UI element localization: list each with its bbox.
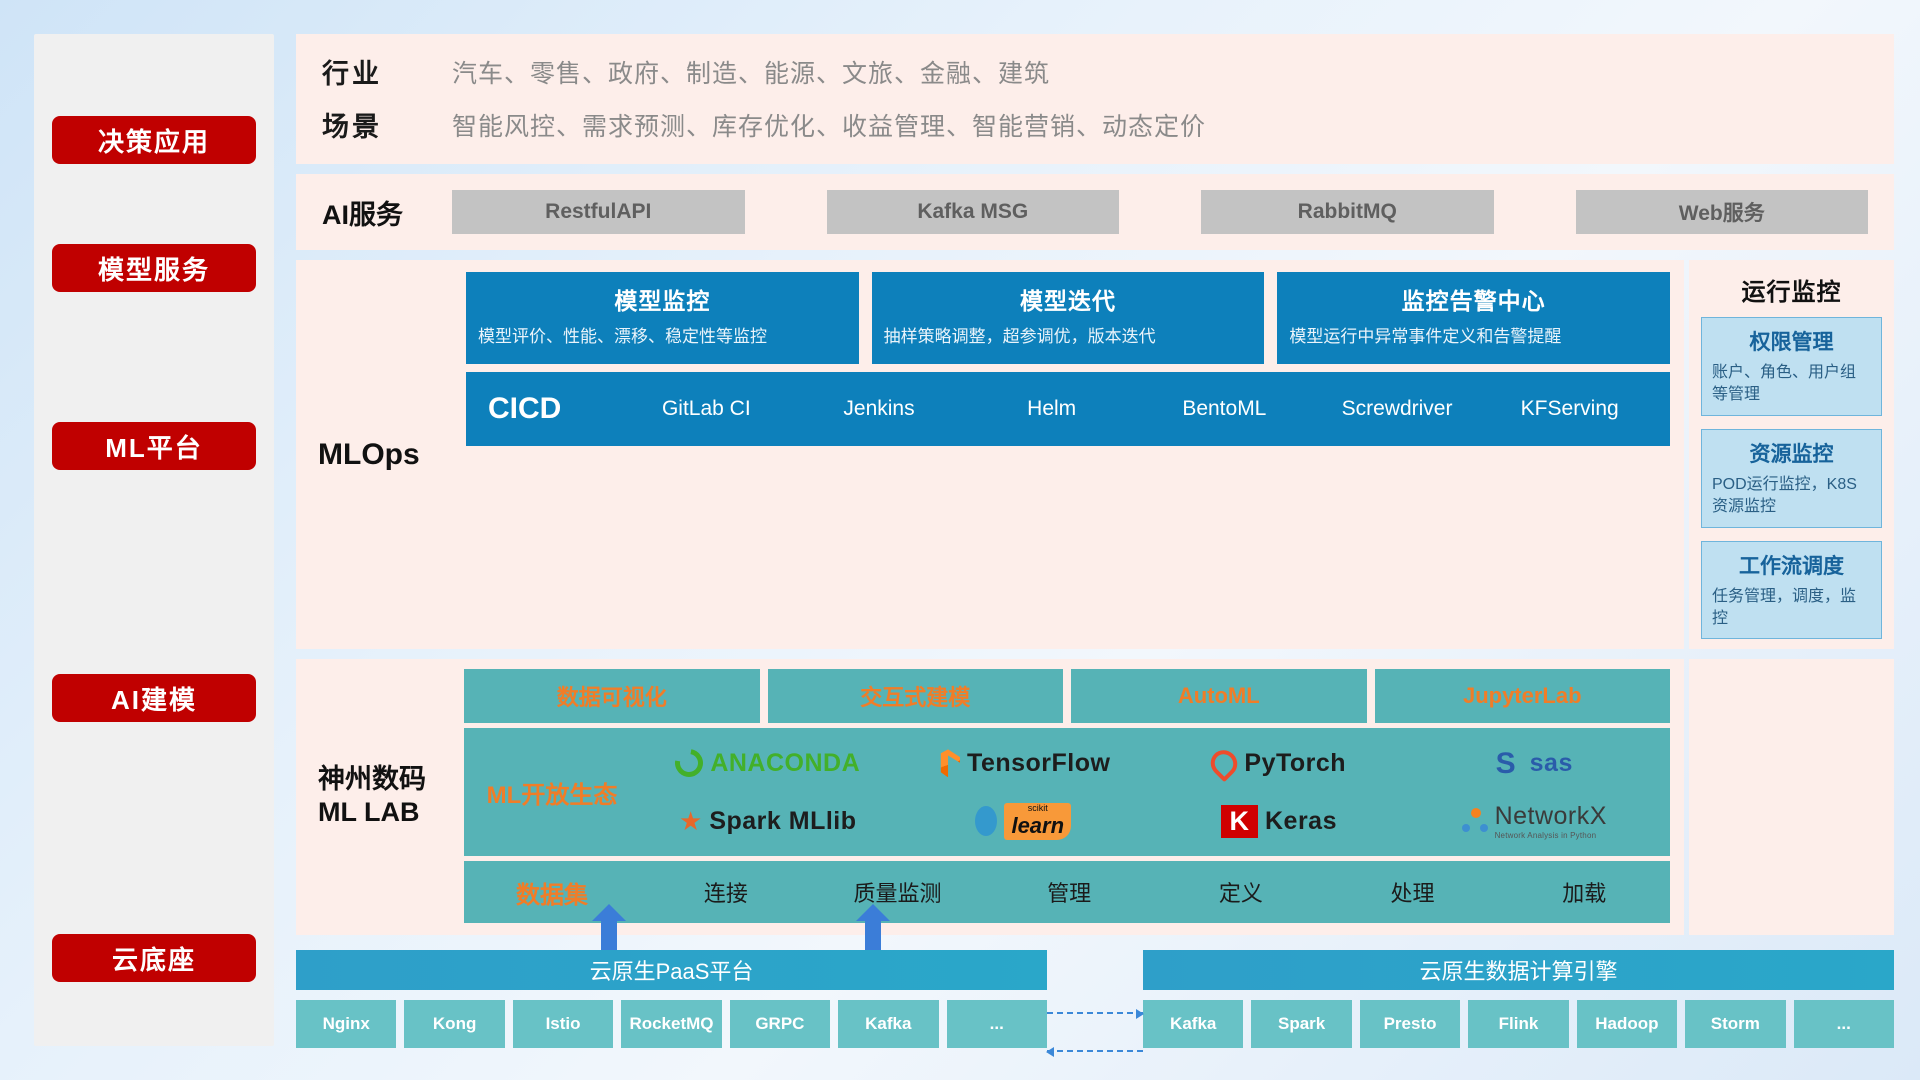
monitor-card-permission[interactable]: 权限管理 账户、角色、用户组等管理	[1701, 317, 1882, 416]
dataset-item-load[interactable]: 加载	[1498, 876, 1670, 908]
ml-open-ecosystem: ML开放生态 ANACONDA TensorFlow	[464, 728, 1670, 856]
mlops-content: 模型监控 模型评价、性能、漂移、稳定性等监控 模型迭代 抽样策略调整，超参调优，…	[466, 272, 1670, 637]
paas-chip-kong[interactable]: Kong	[404, 1000, 504, 1048]
runtime-monitor-title: 运行监控	[1701, 272, 1882, 307]
engine-column: 云原生数据计算引擎 Kafka Spark Presto Flink Hadoo…	[1143, 950, 1894, 1048]
ml-tool-row: 数据可视化 交互式建模 AutoML JupyterLab	[464, 669, 1670, 723]
dataset-item-quality[interactable]: 质量监测	[812, 876, 984, 908]
dataset-item-manage[interactable]: 管理	[983, 876, 1155, 908]
ml-lab-content: 数据可视化 交互式建模 AutoML JupyterLab ML开放生态 ANA…	[464, 669, 1670, 923]
keras-icon: K	[1221, 805, 1259, 838]
networkx-icon	[1462, 808, 1488, 834]
dataset-item-connect[interactable]: 连接	[640, 876, 812, 908]
ml-lab-line1: 神州数码	[318, 763, 450, 797]
card-desc: 模型运行中异常事件定义和告警提醒	[1289, 325, 1658, 350]
engine-chip-flink[interactable]: Flink	[1468, 1000, 1568, 1048]
rail-tag-decision-app[interactable]: 决策应用	[52, 116, 256, 164]
logo-spark-mllib[interactable]: ★ Spark MLlib	[679, 806, 857, 837]
paas-up-arrow-icon	[592, 904, 626, 950]
layer-rail: 决策应用 模型服务 ML平台 AI建模 云底座	[34, 34, 274, 1046]
arrow-left-icon	[1047, 1050, 1143, 1052]
ai-service-band: AI服务 RestfulAPI Kafka MSG RabbitMQ Web服务	[296, 174, 1894, 250]
logo-networkx[interactable]: NetworkXNetwork Analysis in Python	[1462, 802, 1607, 840]
monitor-card-resource[interactable]: 资源监控 POD运行监控，K8S资源监控	[1701, 429, 1882, 528]
cicd-item-jenkins[interactable]: Jenkins	[793, 397, 966, 421]
logo-label: scikitlearn	[1004, 803, 1071, 840]
paas-chip-kafka[interactable]: Kafka	[838, 1000, 938, 1048]
card-desc: 模型评价、性能、漂移、稳定性等监控	[478, 325, 847, 350]
logo-label: sas	[1530, 749, 1573, 778]
rail-tag-ai-modeling[interactable]: AI建模	[52, 674, 256, 722]
cicd-item-kfserving[interactable]: KFServing	[1483, 397, 1656, 421]
eco-logo-grid: ANACONDA TensorFlow PyTorch	[640, 734, 1670, 850]
card-desc: 任务管理，调度，监控	[1712, 586, 1871, 631]
ml-lab-line2: ML LAB	[318, 796, 450, 830]
runtime-monitor-cards: 权限管理 账户、角色、用户组等管理 资源监控 POD运行监控，K8S资源监控 工…	[1701, 317, 1882, 639]
ai-service-label: AI服务	[322, 193, 452, 232]
tool-chip-interactive-modeling[interactable]: 交互式建模	[768, 669, 1064, 723]
logo-label: NetworkXNetwork Analysis in Python	[1495, 802, 1607, 840]
spark-icon: ★	[679, 806, 702, 837]
card-desc: 抽样策略调整，超参调优，版本迭代	[884, 325, 1253, 350]
cicd-bar: CICD GitLab CI Jenkins Helm BentoML Scre…	[466, 372, 1670, 446]
cicd-item-gitlab-ci[interactable]: GitLab CI	[620, 397, 793, 421]
paas-chip-nginx[interactable]: Nginx	[296, 1000, 396, 1048]
card-desc: 账户、角色、用户组等管理	[1712, 362, 1871, 407]
mlops-label: MLOps	[318, 272, 450, 637]
dataset-item-process[interactable]: 处理	[1327, 876, 1499, 908]
ai-service-chip-web-service[interactable]: Web服务	[1576, 190, 1869, 234]
rail-tag-ml-platform[interactable]: ML平台	[52, 422, 256, 470]
engine-up-arrow-icon	[856, 904, 890, 950]
logo-label: Spark MLlib	[709, 807, 856, 836]
arrow-right-icon	[1047, 1012, 1143, 1014]
card-title: 模型迭代	[884, 282, 1253, 316]
card-title: 模型监控	[478, 282, 847, 316]
ai-service-chip-kafka-msg[interactable]: Kafka MSG	[827, 190, 1120, 234]
logo-label: ANACONDA	[710, 749, 860, 778]
ai-service-chip-rabbitmq[interactable]: RabbitMQ	[1201, 190, 1494, 234]
ai-service-items: RestfulAPI Kafka MSG RabbitMQ Web服务	[452, 190, 1868, 234]
cicd-items: GitLab CI Jenkins Helm BentoML Screwdriv…	[620, 397, 1656, 421]
cicd-item-screwdriver[interactable]: Screwdriver	[1311, 397, 1484, 421]
tool-chip-automl[interactable]: AutoML	[1071, 669, 1367, 723]
card-title: 权限管理	[1712, 326, 1871, 356]
mlops-card-alert-center[interactable]: 监控告警中心 模型运行中异常事件定义和告警提醒	[1277, 272, 1670, 364]
engine-chip-hadoop[interactable]: Hadoop	[1577, 1000, 1677, 1048]
paas-chip-grpc[interactable]: GRPC	[730, 1000, 830, 1048]
engine-chip-more[interactable]: ...	[1794, 1000, 1894, 1048]
engine-chip-kafka[interactable]: Kafka	[1143, 1000, 1243, 1048]
card-desc: POD运行监控，K8S资源监控	[1712, 474, 1871, 519]
cicd-item-bentoml[interactable]: BentoML	[1138, 397, 1311, 421]
logo-sas[interactable]: S sas	[1496, 749, 1573, 778]
logo-label: TensorFlow	[967, 749, 1110, 778]
ai-modeling-row: 神州数码 ML LAB 数据可视化 交互式建模 AutoML JupyterLa…	[296, 659, 1894, 935]
paas-chip-rocketmq[interactable]: RocketMQ	[621, 1000, 721, 1048]
scikit-learn-icon	[975, 806, 997, 836]
dataset-items: 连接 质量监测 管理 定义 处理 加载	[640, 876, 1670, 908]
engine-chip-presto[interactable]: Presto	[1360, 1000, 1460, 1048]
scenario-label: 场景	[322, 105, 418, 144]
paas-chip-istio[interactable]: Istio	[513, 1000, 613, 1048]
engine-chips: Kafka Spark Presto Flink Hadoop Storm ..…	[1143, 1000, 1894, 1048]
dataset-item-define[interactable]: 定义	[1155, 876, 1327, 908]
logo-pytorch[interactable]: PyTorch	[1211, 749, 1346, 778]
paas-title-bar: 云原生PaaS平台	[296, 950, 1047, 990]
card-title: 资源监控	[1712, 438, 1871, 468]
runtime-monitor-panel: 运行监控 权限管理 账户、角色、用户组等管理 资源监控 POD运行监控，K8S资…	[1689, 260, 1894, 649]
scenario-values: 智能风控、需求预测、库存优化、收益管理、智能营销、动态定价	[452, 107, 1206, 143]
industry-label: 行业	[322, 52, 418, 91]
architecture-diagram: 决策应用 模型服务 ML平台 AI建模 云底座 行业 汽车、零售、政府、制造、能…	[0, 0, 1920, 1080]
layer-stack: 行业 汽车、零售、政府、制造、能源、文旅、金融、建筑 场景 智能风控、需求预测、…	[296, 34, 1894, 1046]
pytorch-icon	[1206, 745, 1243, 782]
mlops-card-model-iteration[interactable]: 模型迭代 抽样策略调整，超参调优，版本迭代	[872, 272, 1265, 364]
paas-chip-more[interactable]: ...	[947, 1000, 1047, 1048]
logo-keras[interactable]: K Keras	[1221, 805, 1338, 838]
rail-tag-model-service[interactable]: 模型服务	[52, 244, 256, 292]
tensorflow-icon	[936, 749, 960, 777]
dataset-bar: 数据集 连接 质量监测 管理 定义 处理 加载	[464, 861, 1670, 923]
mlops-panel: MLOps 模型监控 模型评价、性能、漂移、稳定性等监控 模型迭代 抽样策略调整…	[296, 260, 1684, 649]
logo-label: PyTorch	[1244, 749, 1346, 778]
engine-title-bar: 云原生数据计算引擎	[1143, 950, 1894, 990]
tool-chip-jupyterlab[interactable]: JupyterLab	[1375, 669, 1671, 723]
logo-label: Keras	[1265, 807, 1337, 836]
engine-chip-storm[interactable]: Storm	[1685, 1000, 1785, 1048]
card-title: 监控告警中心	[1289, 282, 1658, 316]
monitor-card-workflow[interactable]: 工作流调度 任务管理，调度，监控	[1701, 541, 1882, 640]
paas-column: 云原生PaaS平台 Nginx Kong Istio RocketMQ GRPC…	[296, 950, 1047, 1048]
logo-anaconda[interactable]: ANACONDA	[675, 749, 860, 778]
logo-tensorflow[interactable]: TensorFlow	[936, 749, 1110, 778]
engine-chip-spark[interactable]: Spark	[1251, 1000, 1351, 1048]
logo-scikit-learn[interactable]: scikitlearn	[975, 803, 1071, 840]
sas-icon: S	[1496, 750, 1523, 777]
industry-values: 汽车、零售、政府、制造、能源、文旅、金融、建筑	[452, 54, 1050, 90]
ml-lab-label: 神州数码 ML LAB	[318, 669, 450, 923]
decision-app-band: 行业 汽车、零售、政府、制造、能源、文旅、金融、建筑 场景 智能风控、需求预测、…	[296, 34, 1894, 164]
ml-lab-panel: 神州数码 ML LAB 数据可视化 交互式建模 AutoML JupyterLa…	[296, 659, 1684, 935]
modeling-right-spacer	[1689, 659, 1894, 935]
anaconda-icon	[670, 744, 709, 783]
mlops-card-model-monitoring[interactable]: 模型监控 模型评价、性能、漂移、稳定性等监控	[466, 272, 859, 364]
mlops-row: MLOps 模型监控 模型评价、性能、漂移、稳定性等监控 模型迭代 抽样策略调整…	[296, 260, 1894, 649]
paas-chips: Nginx Kong Istio RocketMQ GRPC Kafka ...	[296, 1000, 1047, 1048]
ai-service-chip-restfulapi[interactable]: RestfulAPI	[452, 190, 745, 234]
scenario-line: 场景 智能风控、需求预测、库存优化、收益管理、智能营销、动态定价	[322, 105, 1868, 144]
cicd-item-helm[interactable]: Helm	[965, 397, 1138, 421]
cloud-base-row: 云原生PaaS平台 Nginx Kong Istio RocketMQ GRPC…	[296, 950, 1894, 1048]
cicd-label: CICD	[488, 392, 620, 426]
tool-chip-data-visualization[interactable]: 数据可视化	[464, 669, 760, 723]
card-title: 工作流调度	[1712, 550, 1871, 580]
mlops-cards: 模型监控 模型评价、性能、漂移、稳定性等监控 模型迭代 抽样策略调整，超参调优，…	[466, 272, 1670, 364]
rail-tag-cloud-base[interactable]: 云底座	[52, 934, 256, 982]
industry-line: 行业 汽车、零售、政府、制造、能源、文旅、金融、建筑	[322, 52, 1868, 91]
eco-label: ML开放生态	[464, 734, 640, 850]
